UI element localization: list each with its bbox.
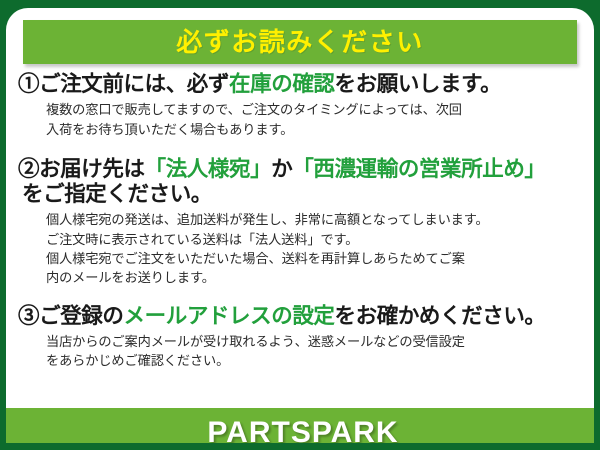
item-1-heading-highlight: 在庫の確認 (229, 72, 335, 96)
item-3-heading-highlight: メールアドレスの設定 (124, 304, 335, 328)
item-3-note-line-1: 当店からのご案内メールが受け取れるよう、迷惑メールなどの受信設定 (46, 332, 594, 351)
item-2-heading-part-1: ②お届け先は (18, 157, 145, 181)
item-2-heading: ②お届け先は「法人様宛」か「西濃運輸の営業所止め」 をご指定ください。 (6, 157, 594, 208)
notice-item-2: ②お届け先は「法人様宛」か「西濃運輸の営業所止め」 をご指定ください。 個人様宅… (6, 157, 594, 287)
item-1-heading: ①ご注文前には、必ず在庫の確認をお願いします。 (6, 72, 594, 97)
item-2-note-line-4: 内のメールをお送りします。 (46, 268, 594, 287)
item-2-heading-highlight-1: 「法人様宛」 (145, 157, 272, 181)
partspark-logo: PARTSPARK (207, 418, 398, 443)
item-2-note-line-2: ご注文時に表示されている送料は「法人送料」です。 (46, 230, 594, 249)
header-title: 必ずお読みください (176, 29, 424, 55)
item-3-heading-part-3: をお確かめください。 (335, 304, 546, 328)
item-2-note-line-1: 個人様宅宛の発送は、追加送料が発生し、非常に高額となってしまいます。 (46, 210, 594, 229)
item-2-heading-highlight-2: 「西濃運輸の営業所止め」 (292, 157, 545, 181)
item-1-note-line-2: 入荷をお待ち頂いただく場合もあります。 (46, 120, 594, 139)
notice-item-3: ③ご登録のメールアドレスの設定をお確かめください。 当店からのご案内メールが受け… (6, 304, 594, 371)
item-2-heading-line-2: をご指定ください。 (20, 182, 594, 207)
item-2-note: 個人様宅宛の発送は、追加送料が発生し、非常に高額となってしまいます。 ご注文時に… (6, 207, 594, 287)
footer-band: PARTSPARK (6, 408, 594, 443)
item-3-heading: ③ご登録のメールアドレスの設定をお確かめください。 (6, 304, 594, 329)
item-1-note-line-1: 複数の窓口で販売してますので、ご注文のタイミングによっては、次回 (46, 100, 594, 119)
item-3-note: 当店からのご案内メールが受け取れるよう、迷惑メールなどの受信設定 をあらかじめご… (6, 329, 594, 370)
notice-item-1: ①ご注文前には、必ず在庫の確認をお願いします。 複数の窓口で販売してますので、ご… (6, 72, 594, 139)
item-3-heading-part-1: ③ご登録の (18, 304, 124, 328)
item-2-heading-part-3: か (271, 157, 292, 181)
item-3-note-line-2: をあらかじめご確認ください。 (46, 351, 594, 370)
notice-frame: 必ずお読みください ①ご注文前には、必ず在庫の確認をお願いします。 複数の窓口で… (0, 0, 600, 450)
item-1-note: 複数の窓口で販売してますので、ご注文のタイミングによっては、次回 入荷をお待ち頂… (6, 97, 594, 138)
notice-panel: 必ずお読みください ①ご注文前には、必ず在庫の確認をお願いします。 複数の窓口で… (6, 8, 594, 443)
item-1-heading-part-1: ①ご注文前には、必ず (18, 72, 229, 96)
header-banner: 必ずお読みください (23, 20, 577, 64)
notice-body: ①ご注文前には、必ず在庫の確認をお願いします。 複数の窓口で販売してますので、ご… (6, 70, 594, 371)
item-1-heading-part-3: をお願いします。 (335, 72, 502, 96)
item-2-note-line-3: 個人様宅宛でご注文をいただいた場合、送料を再計算しあらためてご案 (46, 249, 594, 268)
